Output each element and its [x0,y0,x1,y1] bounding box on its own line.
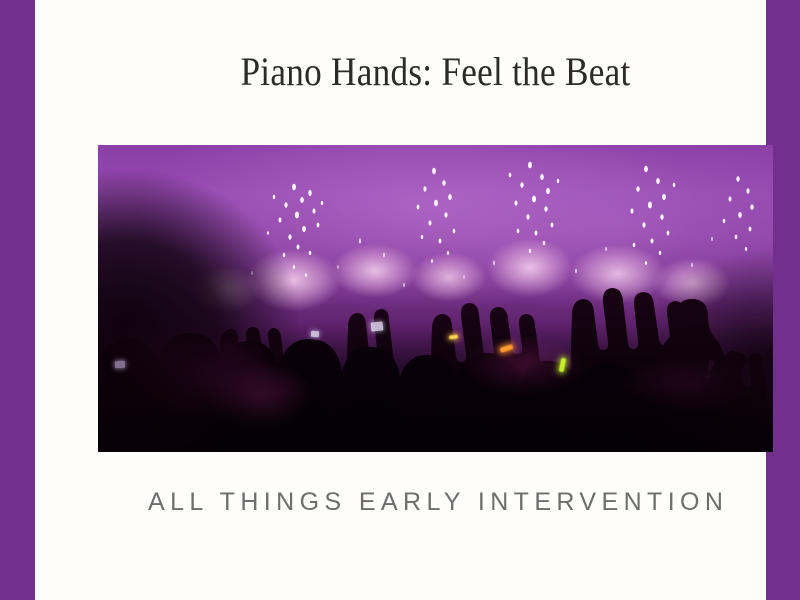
poster-card: Piano Hands: Feel the Beat [35,0,766,600]
phone-screen [115,361,125,369]
poster-subtitle: ALL THINGS EARLY INTERVENTION [70,486,800,518]
poster-title: Piano Hands: Feel the Beat [114,46,757,98]
left-purple-band [0,0,35,600]
phone-screen [371,321,384,331]
phone-screen [310,330,318,337]
poster-canvas: Piano Hands: Feel the Beat [0,0,800,600]
photo-vignette [98,145,773,452]
concert-photo [98,145,773,452]
